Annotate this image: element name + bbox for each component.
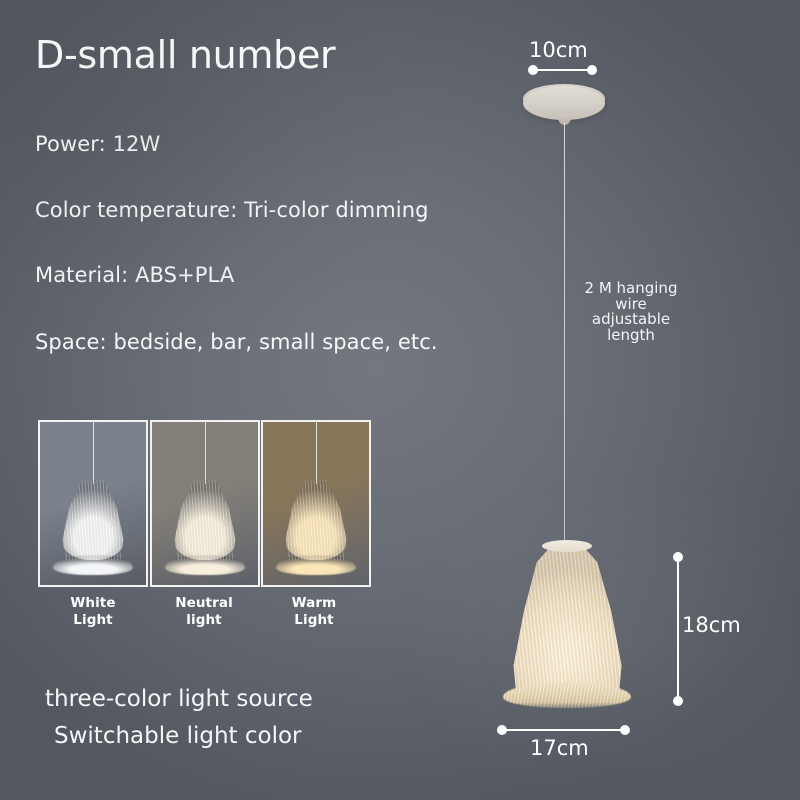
pendant-lamp-shade: [487, 540, 647, 718]
spec-line-color-temperature: Color temperature: Tri-color dimming: [35, 198, 429, 222]
swatch-neutral-light: [150, 420, 260, 587]
swatch-wire: [93, 422, 94, 484]
swatch-white-light: [38, 420, 148, 587]
swatch-label-line2: Light: [73, 612, 112, 628]
lamp-shade-top-cap: [542, 540, 592, 552]
swatch-lamp-illustration: [163, 480, 247, 572]
hanging-wire-note: 2 M hangingwireadjustablelength: [565, 281, 697, 343]
spec-line-material: Material: ABS+PLA: [35, 263, 234, 287]
swatch-label-white-light: WhiteLight: [37, 595, 149, 629]
page-title: D-small number: [35, 33, 335, 77]
swatch-wire: [316, 422, 317, 484]
swatch-label-line2: Light: [294, 612, 333, 628]
dimension-endpoint-dot: [587, 65, 597, 75]
dimension-line-shade-diameter: [502, 729, 624, 731]
swatch-lamp-hem: [165, 555, 245, 575]
spec-line-power: Power: 12W: [35, 132, 160, 156]
dimension-endpoint-dot: [673, 552, 683, 562]
swatch-lamp-texture: [283, 480, 349, 560]
swatch-label-warm-light: WarmLight: [258, 595, 370, 629]
lamp-shade-texture: [509, 544, 625, 696]
dimension-endpoint-dot: [497, 725, 507, 735]
swatch-wire: [205, 422, 206, 484]
dimension-label-shade-diameter: 17cm: [530, 736, 589, 760]
wire-note-line: length: [607, 326, 655, 344]
product-spec-image: D-small number Power: 12W Color temperat…: [0, 0, 800, 800]
swatch-lamp-hem: [276, 555, 356, 575]
swatch-lamp-hem: [53, 555, 133, 575]
swatch-lamp-illustration: [274, 480, 358, 572]
swatch-label-neutral-light: Neutrallight: [148, 595, 260, 629]
caption-line-1: three-color light source: [45, 686, 313, 712]
dimension-line-shade-height: [677, 560, 679, 702]
swatch-label-line1: White: [70, 595, 115, 611]
lamp-shade-hem-texture: [503, 682, 631, 708]
caption-line-2: Switchable light color: [54, 723, 302, 749]
dimension-endpoint-dot: [620, 725, 630, 735]
swatch-lamp-texture: [60, 480, 126, 560]
swatch-label-line2: light: [186, 612, 221, 628]
dimension-line-canopy-diameter: [533, 69, 591, 71]
dimension-label-shade-height: 18cm: [682, 613, 741, 637]
dimension-endpoint-dot: [528, 65, 538, 75]
swatch-lamp-texture: [172, 480, 238, 560]
swatch-lamp-illustration: [51, 480, 135, 572]
spec-line-space: Space: bedside, bar, small space, etc.: [35, 330, 438, 354]
swatch-label-line1: Neutral: [175, 595, 233, 611]
dimension-endpoint-dot: [673, 696, 683, 706]
dimension-label-canopy-diameter: 10cm: [529, 38, 588, 62]
swatch-label-line1: Warm: [292, 595, 337, 611]
swatch-warm-light: [261, 420, 371, 587]
